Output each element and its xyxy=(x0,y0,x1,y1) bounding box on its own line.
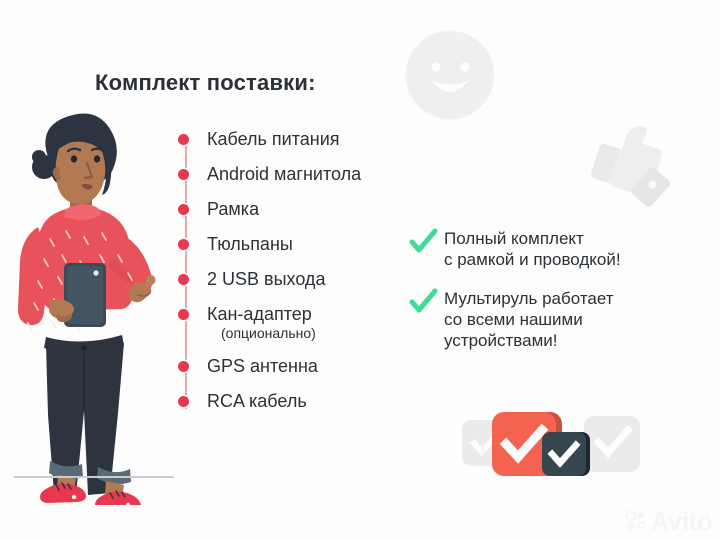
smiley-face-icon xyxy=(405,30,495,120)
bullet-dot-icon xyxy=(178,309,189,320)
benefit-line-2: со всеми нашими xyxy=(444,310,583,329)
list-item-title: Кан-адаптер xyxy=(207,304,312,324)
page-title: Комплект поставки: xyxy=(95,70,316,96)
list-item: Кабель питания xyxy=(178,128,428,150)
bullet-dot-icon xyxy=(178,204,189,215)
thumbs-up-icon xyxy=(578,108,690,220)
poster-canvas: Комплект поставки: xyxy=(0,0,720,540)
benefit-line-2: с рамкой и проводкой! xyxy=(444,250,621,269)
checkbox-group-icon xyxy=(462,408,642,480)
list-item-subtitle: (опционально) xyxy=(207,325,316,342)
bullet-dot-icon xyxy=(178,274,189,285)
bullet-dot-icon xyxy=(178,134,189,145)
check-icon xyxy=(408,287,438,317)
kit-list: Кабель питания Android магнитола Рамка Т… xyxy=(178,128,428,425)
list-item: Кан-адаптер (опционально) xyxy=(178,303,428,342)
list-item: 2 USB выхода xyxy=(178,268,428,290)
benefits-list: Полный комплект с рамкой и проводкой! Му… xyxy=(408,228,708,369)
bullet-dot-icon xyxy=(178,239,189,250)
list-item: Рамка xyxy=(178,198,428,220)
check-icon xyxy=(408,227,438,257)
list-item: RCA кабель xyxy=(178,390,428,412)
benefit-item: Полный комплект с рамкой и проводкой! xyxy=(408,228,708,270)
benefit-line-1: Полный комплект xyxy=(444,229,584,248)
benefit-item: Мультируль работает со всеми нашими устр… xyxy=(408,288,708,351)
avito-watermark: Avito xyxy=(625,508,712,534)
benefit-line-3: устройствами! xyxy=(444,331,558,350)
bullet-dot-icon xyxy=(178,396,189,407)
bullet-dot-icon xyxy=(178,361,189,372)
avito-wordmark: Avito xyxy=(650,508,712,534)
list-item-label: Android магнитола xyxy=(207,163,361,185)
list-item-label: Кабель питания xyxy=(207,128,340,150)
benefit-text: Полный комплект с рамкой и проводкой! xyxy=(444,228,621,270)
list-item: Тюльпаны xyxy=(178,233,428,255)
list-item-label: GPS антенна xyxy=(207,355,318,377)
avito-logo-icon xyxy=(625,510,647,532)
list-item-label: 2 USB выхода xyxy=(207,268,325,290)
benefit-line-1: Мультируль работает xyxy=(444,289,614,308)
bullet-dot-icon xyxy=(178,169,189,180)
list-item: Android магнитола xyxy=(178,163,428,185)
list-item-label: Рамка xyxy=(207,198,259,220)
ground-line xyxy=(14,476,174,478)
benefit-text: Мультируль работает со всеми нашими устр… xyxy=(444,288,614,351)
woman-pointing-with-tablet-illustration xyxy=(8,105,178,505)
list-item-label: Кан-адаптер (опционально) xyxy=(207,303,316,342)
list-item-label: Тюльпаны xyxy=(207,233,293,255)
list-item-label: RCA кабель xyxy=(207,390,307,412)
list-item: GPS антенна xyxy=(178,355,428,377)
